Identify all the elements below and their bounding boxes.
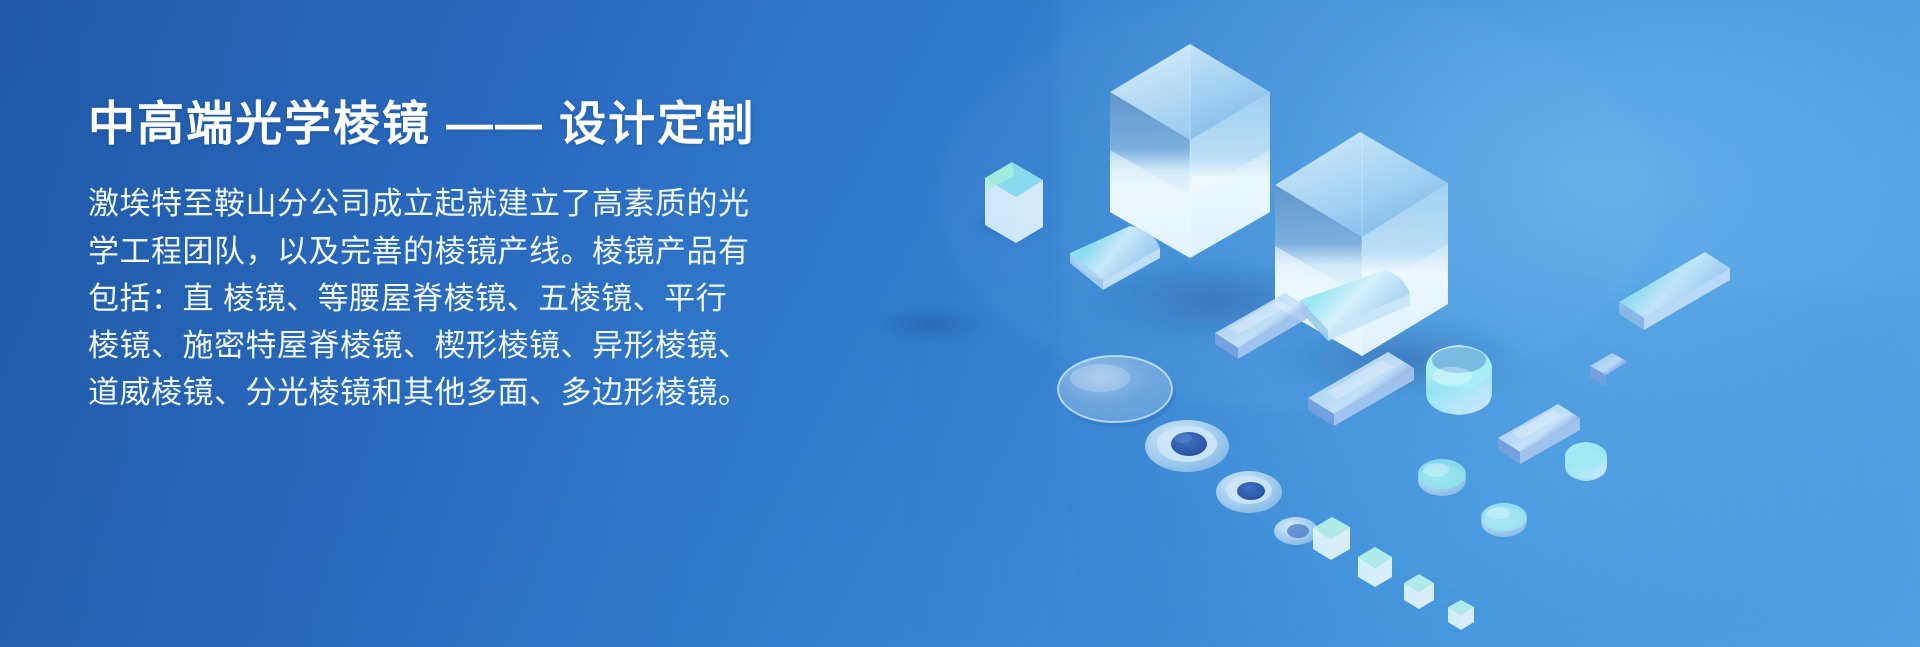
description-line: 激埃特至鞍山分公司成立起就建立了高素质的光	[88, 180, 848, 227]
page-title: 中高端光学棱镜 —— 设计定制	[88, 96, 848, 152]
banner-copy: 中高端光学棱镜 —— 设计定制 激埃特至鞍山分公司成立起就建立了高素质的光 学工…	[88, 96, 848, 416]
description-line: 包括：直 棱镜、等腰屋脊棱镜、五棱镜、平行	[88, 275, 848, 322]
description-line: 道威棱镜、分光棱镜和其他多面、多边形棱镜。	[88, 369, 848, 416]
banner-description: 激埃特至鞍山分公司成立起就建立了高素质的光 学工程团队，以及完善的棱镜产线。棱镜…	[88, 180, 848, 416]
prism-product-banner: 中高端光学棱镜 —— 设计定制 激埃特至鞍山分公司成立起就建立了高素质的光 学工…	[0, 0, 1920, 647]
description-line: 棱镜、施密特屋脊棱镜、楔形棱镜、异形棱镜、	[88, 322, 848, 369]
description-line: 学工程团队，以及完善的棱镜产线。棱镜产品有	[88, 228, 848, 275]
